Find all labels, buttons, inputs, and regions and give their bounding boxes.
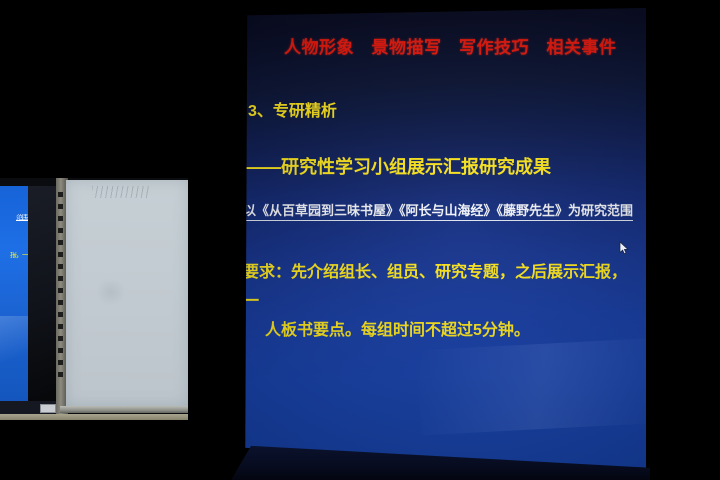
projection-glare: [417, 338, 646, 435]
screen-glare: [0, 316, 28, 386]
projected-slide: 人物形象 景物描写 写作技巧 相关事件 3、专研精析 ——研究性学习小组展示汇报…: [240, 6, 646, 476]
monitor-brand-plate: [40, 404, 56, 413]
secondary-display-yellow-text: 报，一: [0, 252, 28, 260]
secondary-display-underlined-text: 范围: [0, 214, 28, 222]
whiteboard-marker-tray: [60, 406, 188, 413]
screenshot-root: 范围 报，一: [0, 0, 720, 480]
wall-ledge: [0, 414, 188, 420]
mouse-pointer-icon: [619, 241, 629, 255]
whiteboard-writing: [92, 186, 150, 198]
whiteboard: [66, 180, 188, 406]
classroom-photo: 范围 报，一: [0, 178, 188, 420]
whiteboard-smudge: [96, 278, 126, 306]
